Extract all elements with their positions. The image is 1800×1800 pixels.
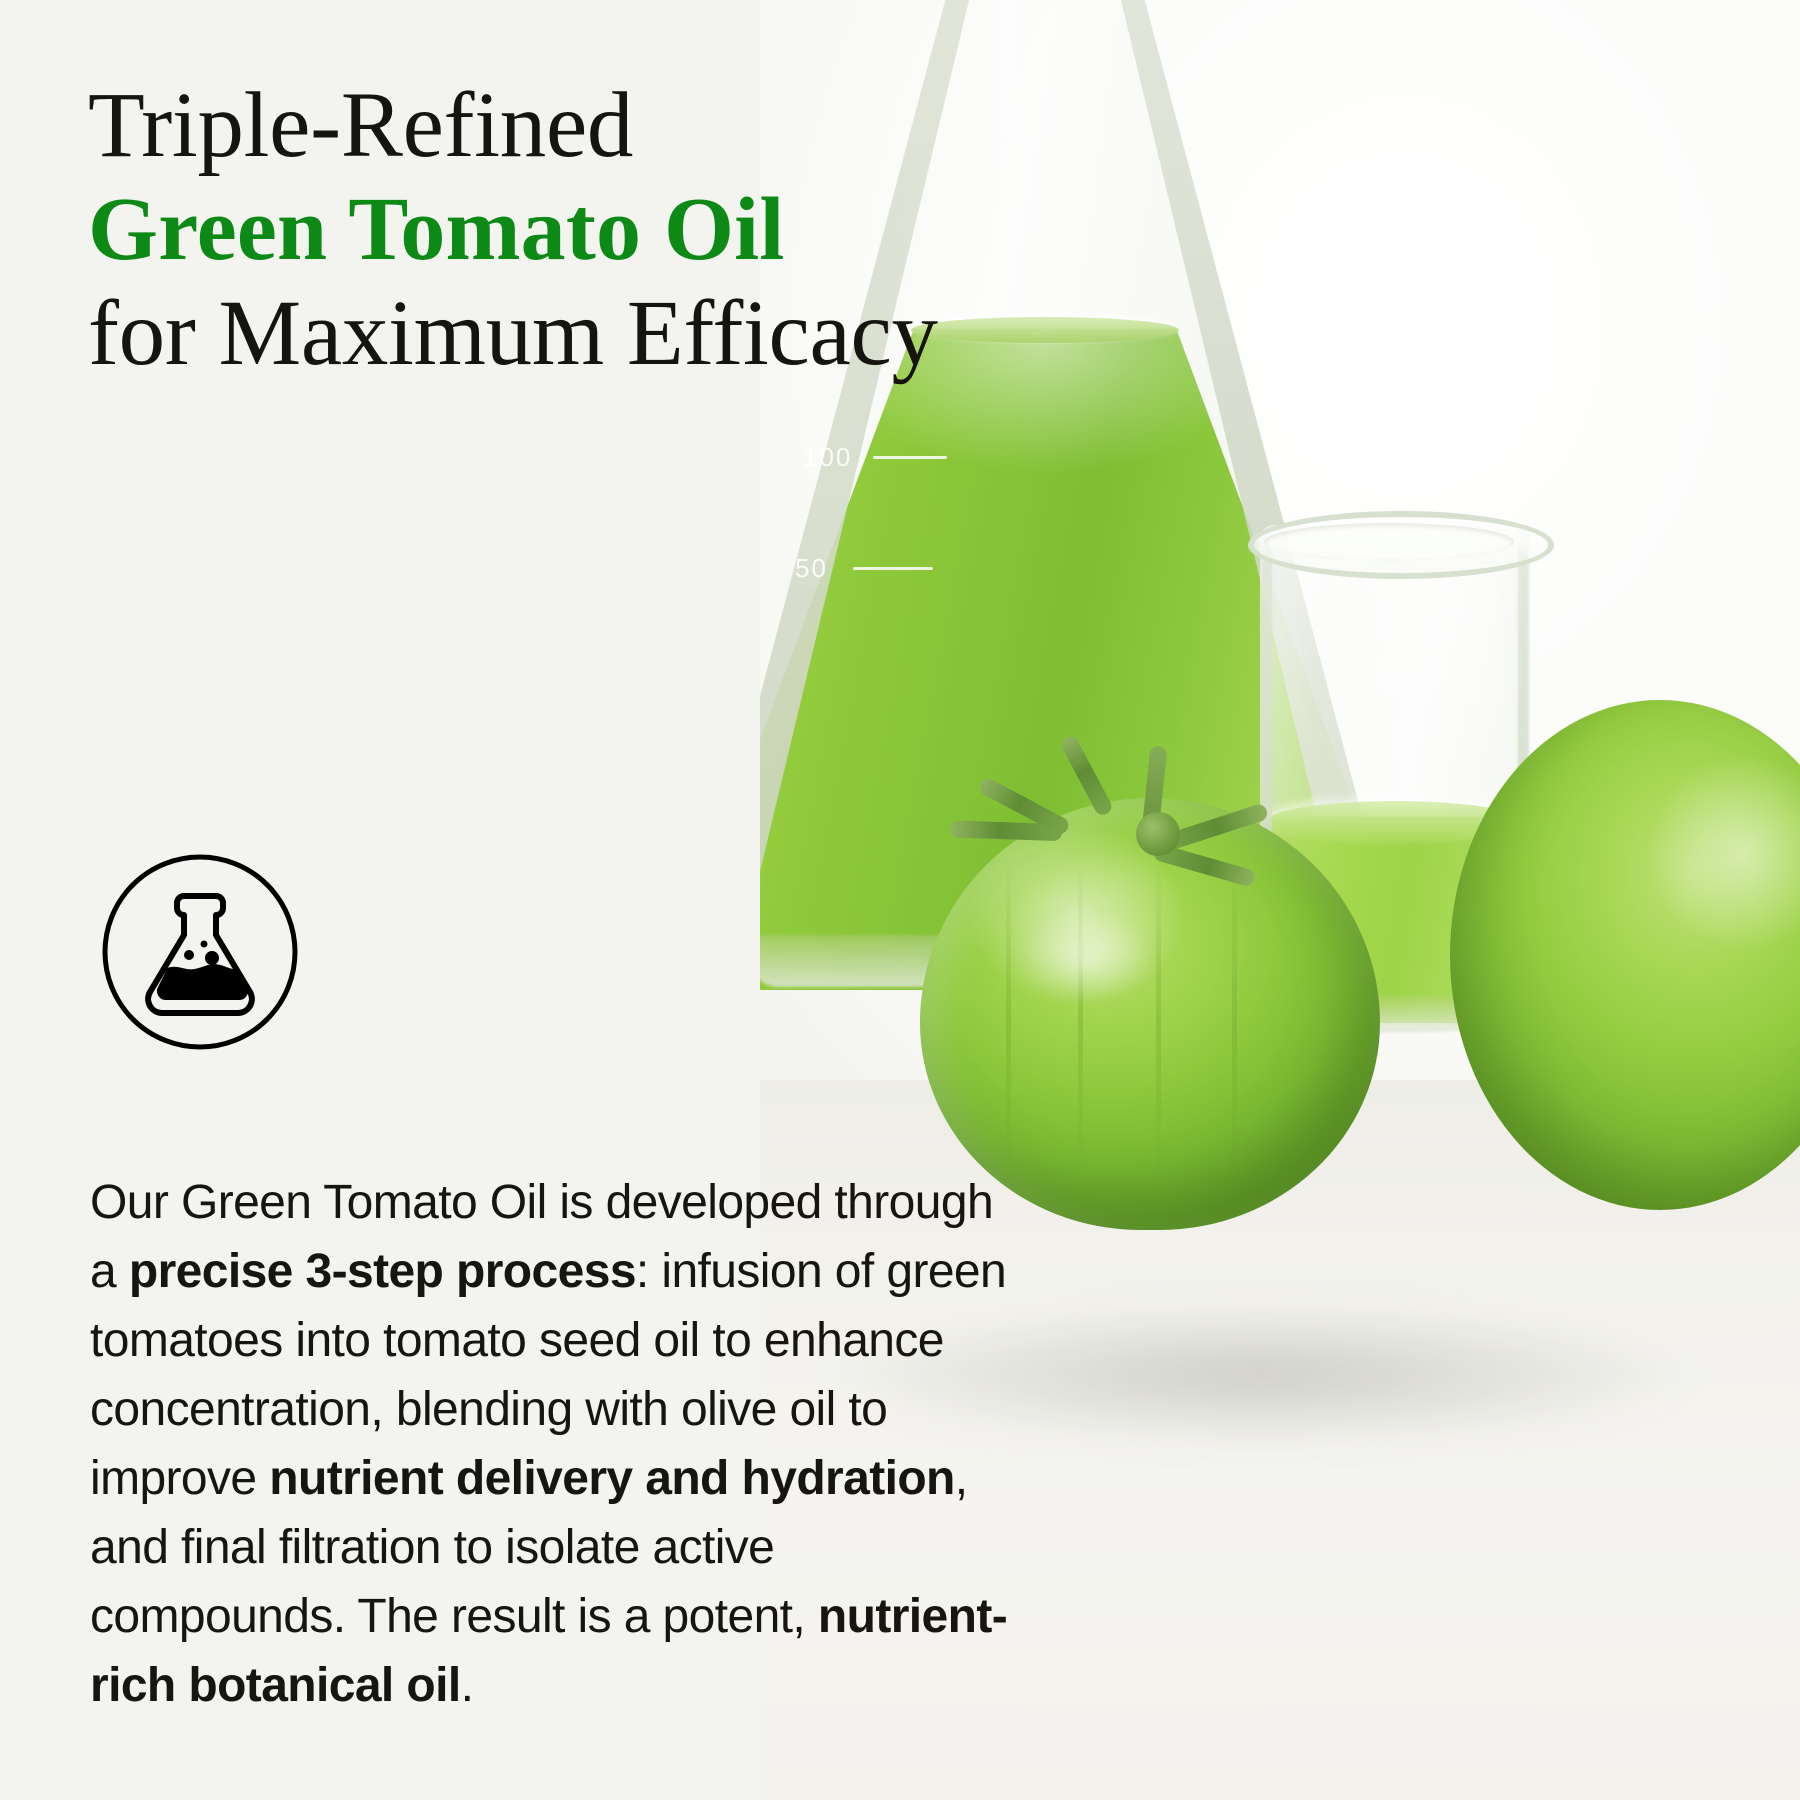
flask-graduation-50-label: 50 [795, 553, 828, 584]
flask-graduation-50-tick [853, 567, 933, 570]
flask-circle-icon [100, 852, 300, 1052]
tomato-calyx [1038, 760, 1278, 920]
flask-graduation-100-tick [873, 456, 947, 459]
body-paragraph: Our Green Tomato Oil is developed throug… [90, 1168, 1020, 1720]
body-text-6: . [461, 1659, 474, 1712]
beaker-rim [1248, 511, 1554, 579]
poster-canvas: 100 50 [0, 0, 1800, 1800]
body-emphasis-3: nutrient delivery and hydration [269, 1452, 955, 1505]
tomato-front-highlight [1016, 910, 1156, 1002]
green-tomato-front [920, 760, 1380, 1230]
body-emphasis-1: precise 3-step process [129, 1245, 636, 1298]
headline-line-3: for Maximum Efficacy [88, 282, 1038, 386]
beaker-rim-inner [1264, 523, 1514, 561]
tomato-right-body [1450, 700, 1800, 1210]
headline-block: Triple-Refined Green Tomato Oil for Maxi… [88, 74, 1038, 386]
green-tomato-right [1450, 700, 1800, 1220]
headline-line-2: Green Tomato Oil [88, 178, 1038, 282]
tomato-stem [1136, 812, 1180, 856]
headline-line-1: Triple-Refined [88, 74, 1038, 178]
flask-graduation-100-label: 100 [803, 442, 852, 473]
